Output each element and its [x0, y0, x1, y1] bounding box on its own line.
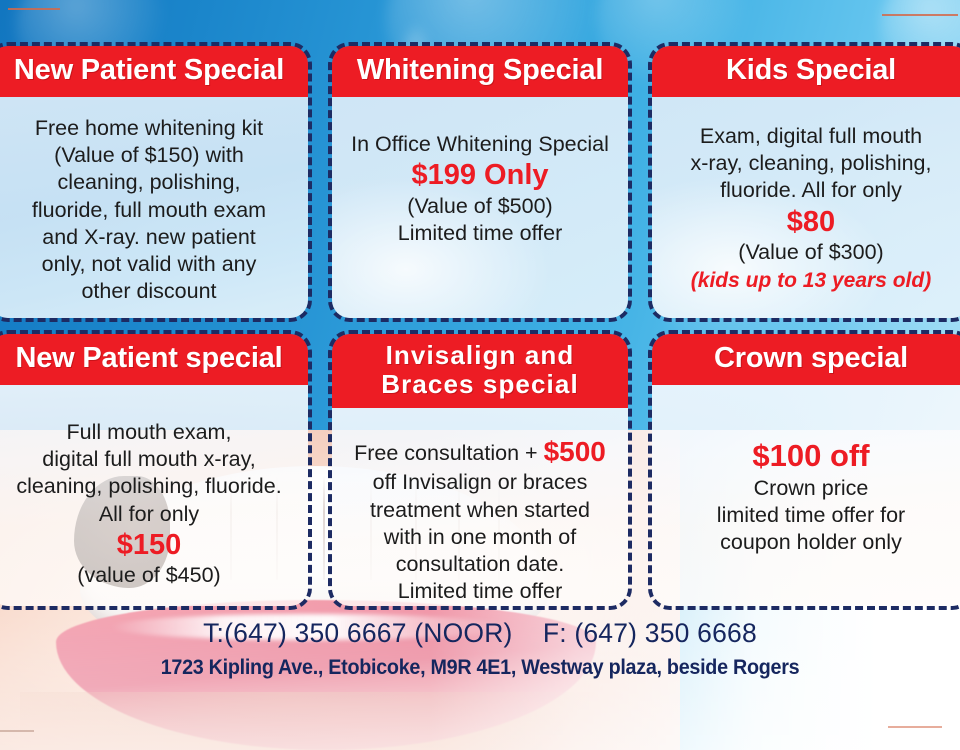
coupon-title: Crown special	[652, 334, 960, 385]
coupon-title: Whitening Special	[332, 46, 628, 97]
coupon-text-line: Full mouth exam,	[67, 419, 232, 446]
coupon-text-line: Crown price	[754, 475, 869, 502]
coupon-body: In Office Whitening Special $199 Only (V…	[332, 97, 628, 318]
coupon-text-line: (value of $450)	[77, 562, 220, 589]
coupon-text-line: (Value of $500)	[407, 193, 552, 220]
coupon-text-line: cleaning, polishing,	[58, 169, 241, 196]
coupon-text-line: Exam, digital full mouth	[700, 123, 922, 150]
coupon-text-line: coupon holder only	[720, 529, 902, 556]
coupon-text-line: In Office Whitening Special	[351, 131, 609, 158]
coupon-price: $80	[787, 205, 835, 239]
coupon-lead-text: Free consultation +	[354, 441, 543, 465]
coupon-title: Kids Special	[652, 46, 960, 97]
coupon-text-line: with in one month of	[384, 524, 576, 551]
coupon-body: Full mouth exam, digital full mouth x-ra…	[0, 385, 308, 606]
coupon-whitening-special[interactable]: Whitening Special In Office Whitening Sp…	[328, 42, 632, 322]
coupon-body: $100 off Crown price limited time offer …	[652, 385, 960, 606]
coupon-inline-price: $500	[544, 436, 606, 467]
coupon-text-line: other discount	[81, 278, 216, 305]
coupon-text-line: Limited time offer	[398, 220, 563, 247]
coupon-text-line: fluoride, full mouth exam	[32, 197, 266, 224]
coupon-text-line: x-ray, cleaning, polishing,	[690, 150, 931, 177]
coupon-title: New Patient special	[0, 334, 308, 385]
coupon-text-line: digital full mouth x-ray,	[42, 446, 256, 473]
coupon-text-line: only, not valid with any	[42, 251, 257, 278]
decorative-rule	[8, 8, 60, 10]
coupon-new-patient-special[interactable]: New Patient Special Free home whitening …	[0, 42, 312, 322]
contact-block: T:(647) 350 6667 (NOOR) F: (647) 350 666…	[0, 618, 960, 680]
coupon-text-line: Limited time offer	[398, 578, 563, 605]
coupon-price: $100 off	[752, 437, 869, 474]
coupon-body: Free consultation + $500 off Invisalign …	[332, 408, 628, 610]
coupon-invisalign-braces-special[interactable]: Invisalign and Braces special Free consu…	[328, 330, 632, 610]
coupon-grid: New Patient Special Free home whitening …	[0, 42, 960, 610]
coupon-text-line: limited time offer for	[717, 502, 905, 529]
coupon-title: Invisalign and Braces special	[332, 334, 628, 408]
coupon-text-line: off Invisalign or braces	[373, 469, 588, 496]
decorative-rule	[0, 730, 34, 732]
coupon-text-line: treatment when started	[370, 497, 590, 524]
coupon-text-line: Free home whitening kit	[35, 115, 263, 142]
coupon-text-line: fluoride. All for only	[720, 177, 902, 204]
coupon-kids-special[interactable]: Kids Special Exam, digital full mouth x-…	[648, 42, 960, 322]
coupon-text-line: consultation date.	[396, 551, 565, 578]
decorative-rule	[888, 726, 942, 728]
coupon-text-line: cleaning, polishing, fluoride.	[16, 473, 281, 500]
coupon-title-line-1: Invisalign and	[338, 341, 622, 370]
coupon-text-line: (Value of $300)	[738, 239, 883, 266]
coupon-text-line: All for only	[99, 501, 199, 528]
coupon-title: New Patient Special	[0, 46, 308, 97]
coupon-text-line: (Value of $150) with	[54, 142, 244, 169]
decorative-rule	[882, 14, 958, 16]
coupon-lead-line: Free consultation + $500	[354, 434, 606, 469]
coupon-text-line: and X-ray. new patient	[42, 224, 256, 251]
coupon-body: Exam, digital full mouth x-ray, cleaning…	[652, 97, 960, 318]
coupon-crown-special[interactable]: Crown special $100 off Crown price limit…	[648, 330, 960, 610]
coupon-title-line-2: Braces special	[338, 370, 622, 399]
contact-phone-numbers[interactable]: T:(647) 350 6667 (NOOR) F: (647) 350 666…	[0, 618, 960, 650]
coupon-price: $199 Only	[411, 158, 548, 192]
coupon-age-note: (kids up to 13 years old)	[691, 268, 931, 294]
coupon-new-patient-special-2[interactable]: New Patient special Full mouth exam, dig…	[0, 330, 312, 610]
contact-address: 1723 Kipling Ave., Etobicoke, M9R 4E1, W…	[29, 655, 931, 680]
coupon-price: $150	[117, 528, 182, 562]
coupon-body: Free home whitening kit (Value of $150) …	[0, 97, 308, 318]
